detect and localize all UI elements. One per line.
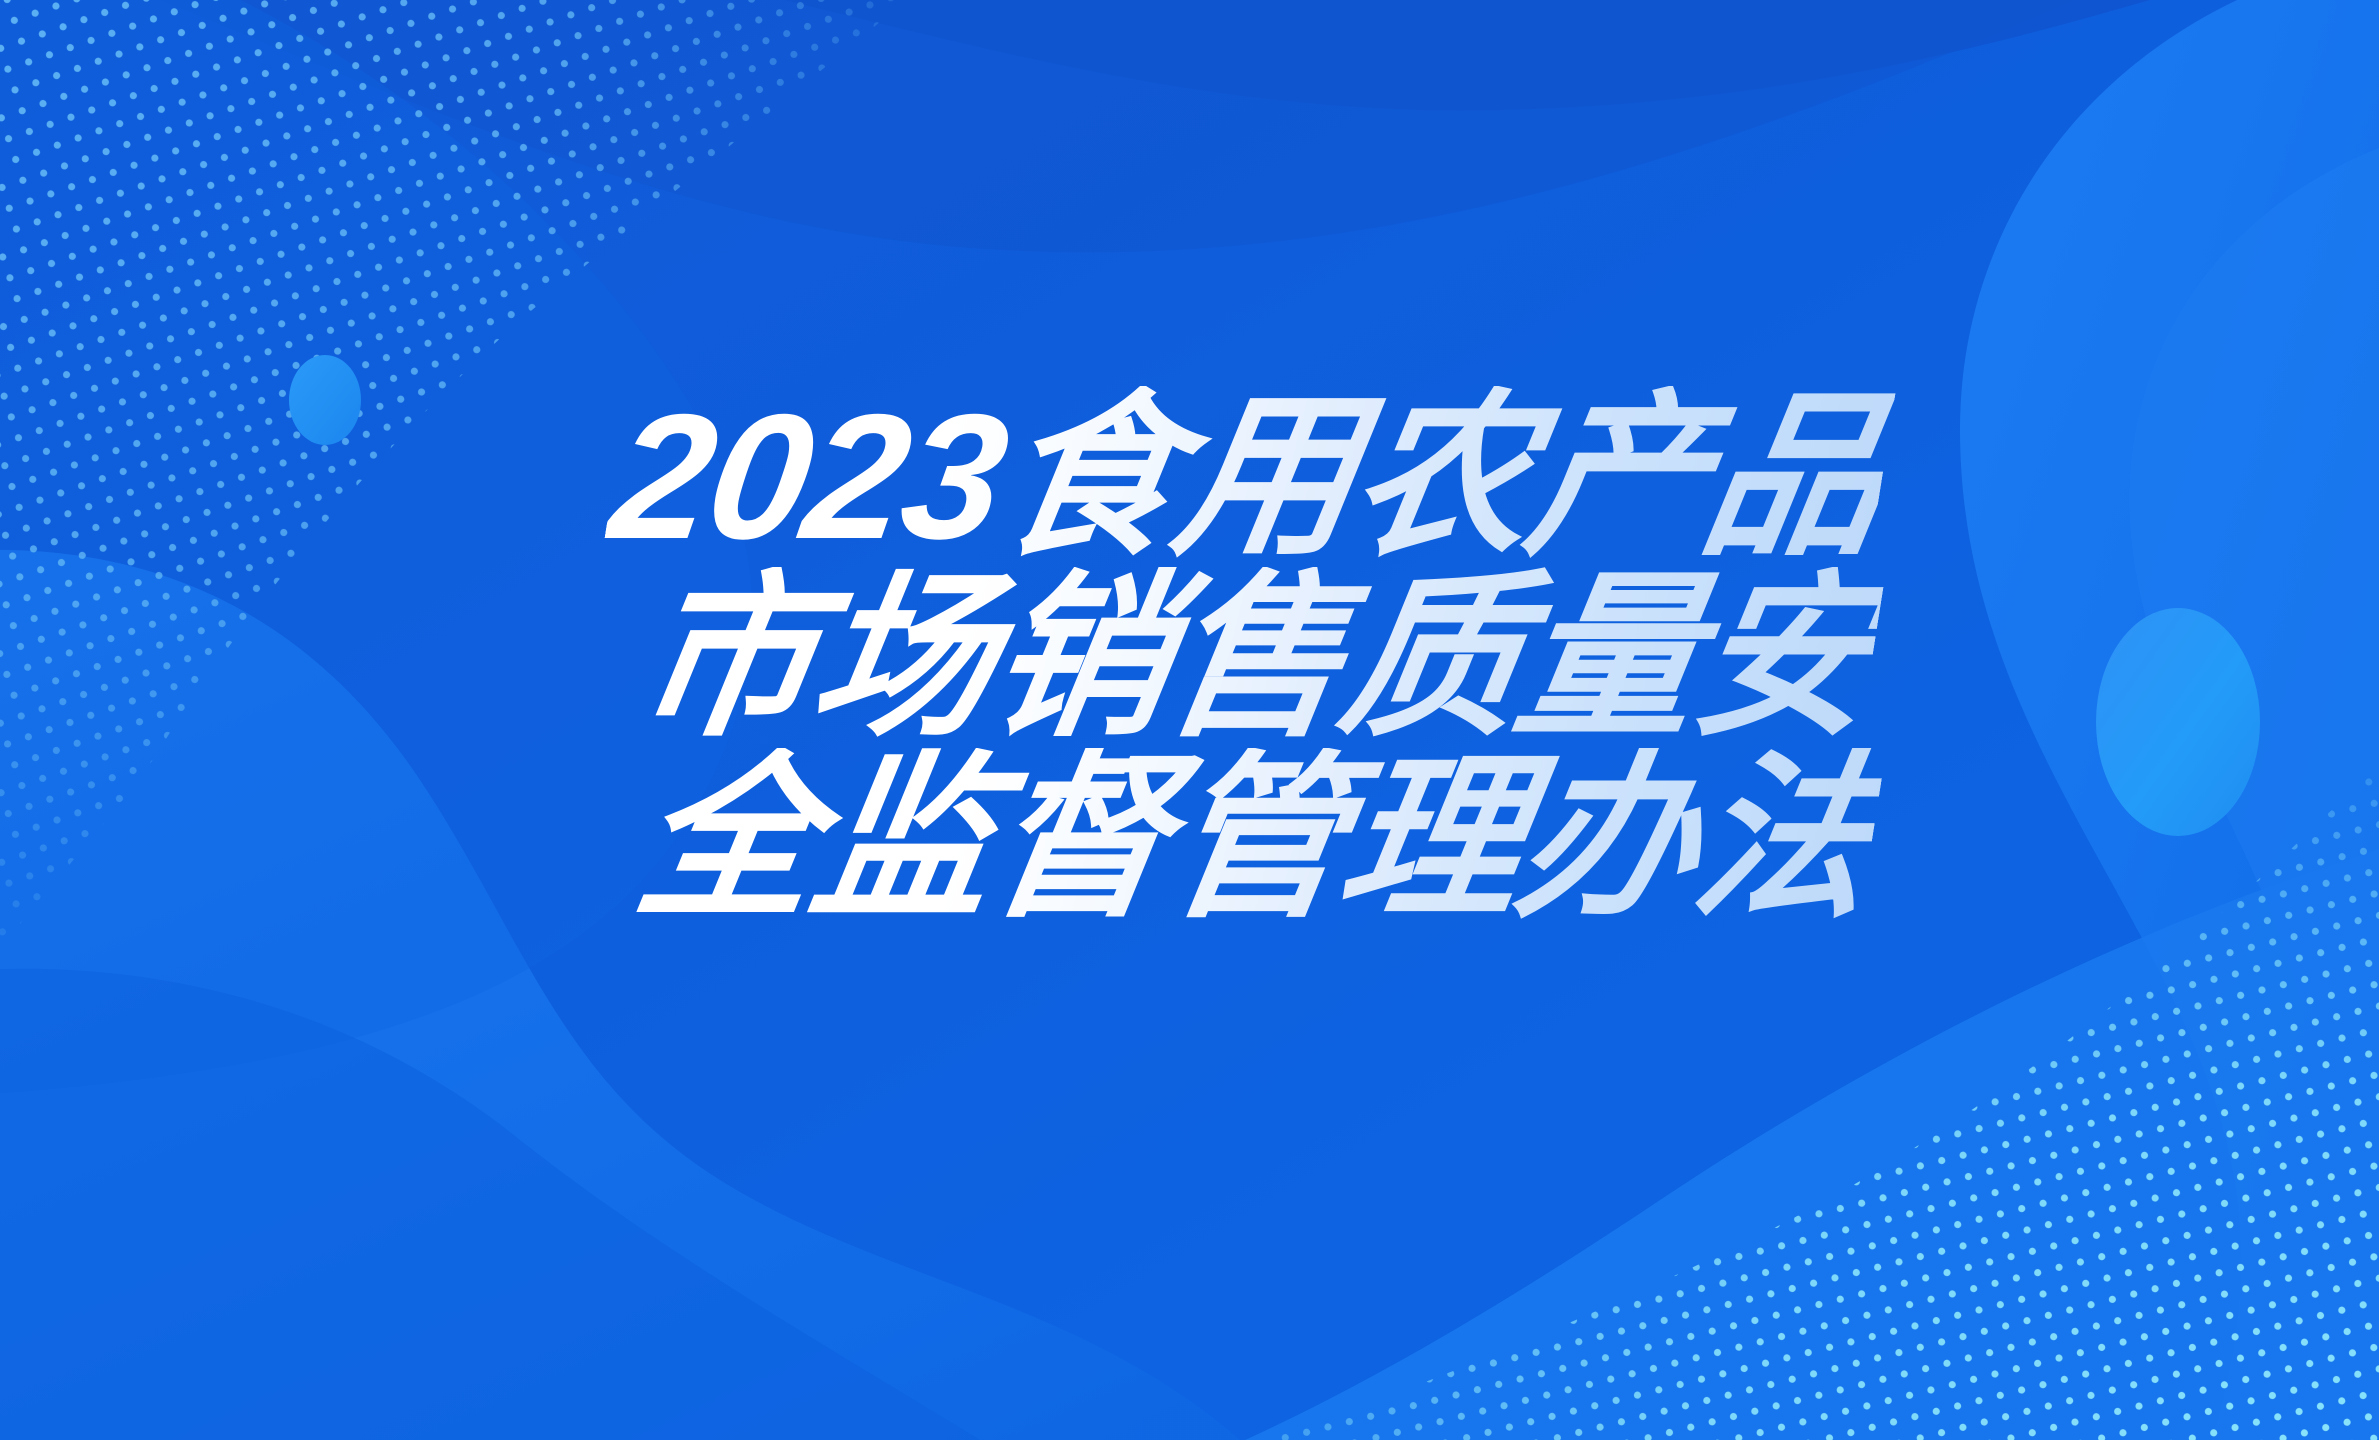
poster-canvas: 2023食用农产品 市场销售质量安 全监督管理办法 — [0, 0, 2379, 1440]
title-line-2: 市场销售质量安 — [626, 567, 1887, 748]
title-line-3: 全监督管理办法 — [626, 748, 1887, 929]
poster-title: 2023食用农产品 市场销售质量安 全监督管理办法 — [600, 386, 2000, 929]
ellipse-small-left — [289, 355, 361, 445]
title-line-1: 2023食用农产品 — [600, 386, 1897, 567]
ellipse-large-right — [2096, 608, 2260, 836]
